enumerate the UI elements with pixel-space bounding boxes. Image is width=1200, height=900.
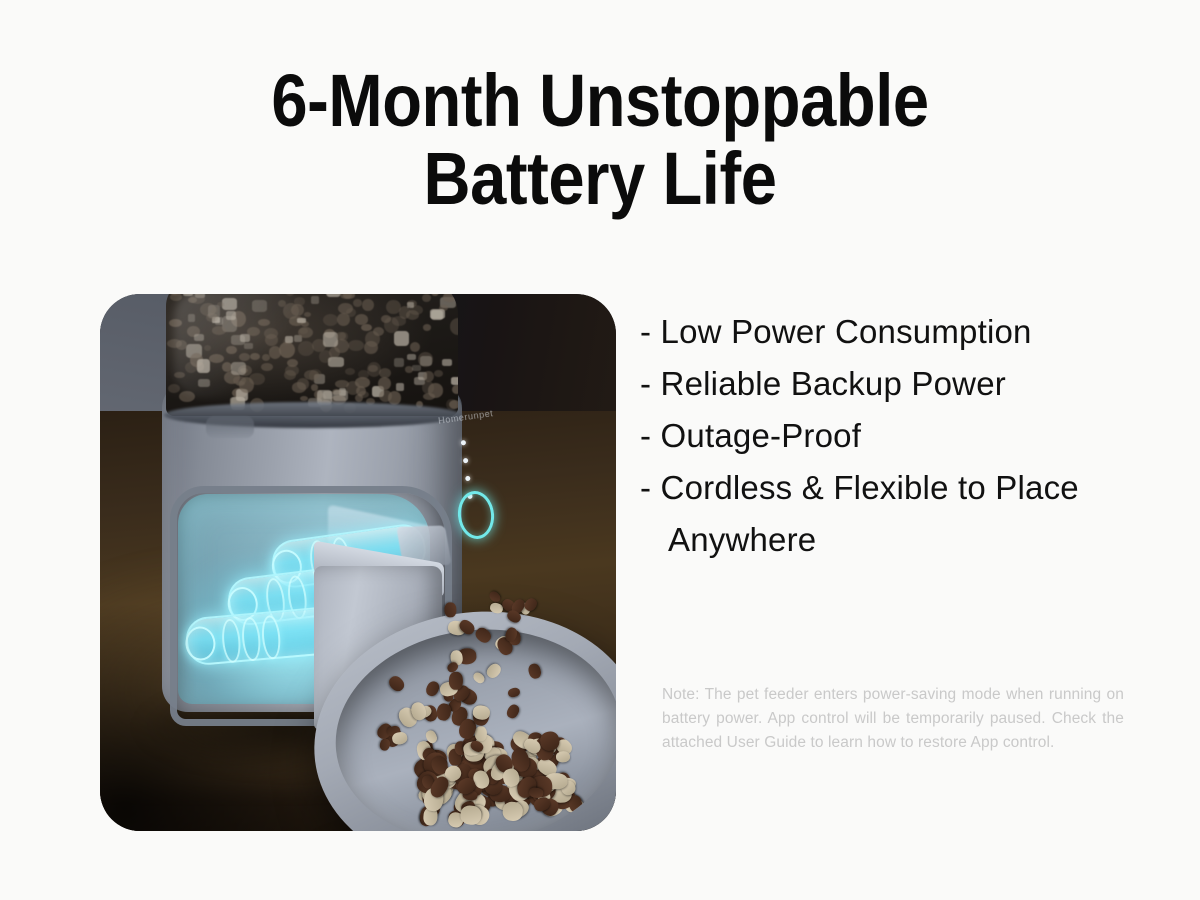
- hopper-kibble: [434, 370, 443, 377]
- hopper-kibble: [168, 384, 180, 393]
- hopper-kibble: [422, 294, 431, 302]
- hopper-kibble: [378, 377, 390, 390]
- headline-line-1: 6-Month Unstoppable: [72, 62, 1128, 140]
- hopper-kibble: [304, 312, 311, 317]
- hopper-kibble: [420, 356, 432, 366]
- hopper-kibble: [386, 300, 400, 314]
- hopper-kibble: [396, 383, 405, 391]
- led-indicator-dot: [463, 458, 469, 464]
- hopper-kibble: [407, 302, 414, 308]
- hopper-kibble: [345, 368, 355, 375]
- hopper-gloss: [174, 294, 304, 398]
- headline-line-2: Battery Life: [72, 140, 1128, 218]
- hopper-kibble: [339, 332, 348, 340]
- hopper-kibble: [431, 294, 439, 296]
- hopper-kibble: [430, 309, 445, 319]
- hopper-kibble: [309, 369, 322, 382]
- led-indicator-dot: [461, 440, 467, 446]
- hopper-kibble: [423, 324, 432, 331]
- hopper-kibble: [406, 310, 419, 320]
- hopper-kibble: [355, 394, 363, 402]
- hopper-kibble: [449, 400, 458, 409]
- hopper-kibble: [394, 358, 404, 367]
- hopper-kibble: [412, 365, 421, 371]
- hopper-kibble: [450, 318, 458, 335]
- hopper-kibble: [323, 332, 338, 347]
- hopper-kibble: [381, 315, 392, 323]
- hopper-kibble: [348, 340, 363, 351]
- hopper-kibble: [326, 294, 341, 297]
- hopper-kibble: [362, 299, 373, 311]
- feature-list: - Low Power Consumption- Reliable Backup…: [640, 306, 1160, 566]
- hopper-kibble: [379, 390, 392, 402]
- hopper-latch-icon: [206, 416, 254, 438]
- hopper-kibble: [410, 342, 421, 353]
- falling-kibble: [449, 672, 463, 690]
- feature-list-item: - Reliable Backup Power: [640, 358, 1160, 410]
- bowl-kibble-scattered: [387, 673, 408, 694]
- hopper-kibble: [394, 331, 410, 346]
- bowl-kibble-scattered: [378, 738, 390, 752]
- hopper-kibble: [333, 390, 348, 401]
- bowl-kibble-scattered: [391, 731, 408, 745]
- page-title: 6-Month Unstoppable Battery Life: [72, 62, 1128, 218]
- hopper-kibble: [328, 357, 343, 367]
- feature-list-item: - Low Power Consumption: [640, 306, 1160, 358]
- hopper-kibble: [337, 313, 350, 326]
- led-indicator-dot: [465, 476, 471, 482]
- hopper-kibble: [407, 354, 417, 361]
- product-scene: Homerunpet: [100, 294, 616, 831]
- hopper-kibble: [300, 396, 308, 401]
- hopper-kibble: [452, 385, 458, 394]
- falling-kibble: [444, 603, 456, 618]
- hopper-kibble: [443, 294, 456, 302]
- feature-list-item: - Cordless & Flexible to Place Anywhere: [640, 462, 1160, 566]
- bowl-kibble: [501, 801, 523, 822]
- product-image: Homerunpet: [100, 294, 616, 831]
- feature-list-item: - Outage-Proof: [640, 410, 1160, 462]
- bowl-kibble: [556, 751, 571, 763]
- hopper-kibble: [423, 371, 434, 382]
- hopper-kibble: [442, 359, 452, 367]
- food-bowl-interior: [325, 616, 616, 831]
- hopper-kibble: [365, 331, 380, 347]
- hopper-kibble: [353, 299, 362, 307]
- hopper-kibble: [422, 381, 433, 394]
- hopper-kibble: [311, 296, 319, 304]
- disclaimer-note: Note: The pet feeder enters power-saving…: [662, 683, 1124, 755]
- hopper-kibble: [451, 377, 458, 385]
- hopper-kibble: [335, 380, 348, 388]
- hopper-kibble: [323, 314, 339, 326]
- hopper-kibble: [355, 314, 368, 325]
- hopper-kibble: [355, 377, 371, 387]
